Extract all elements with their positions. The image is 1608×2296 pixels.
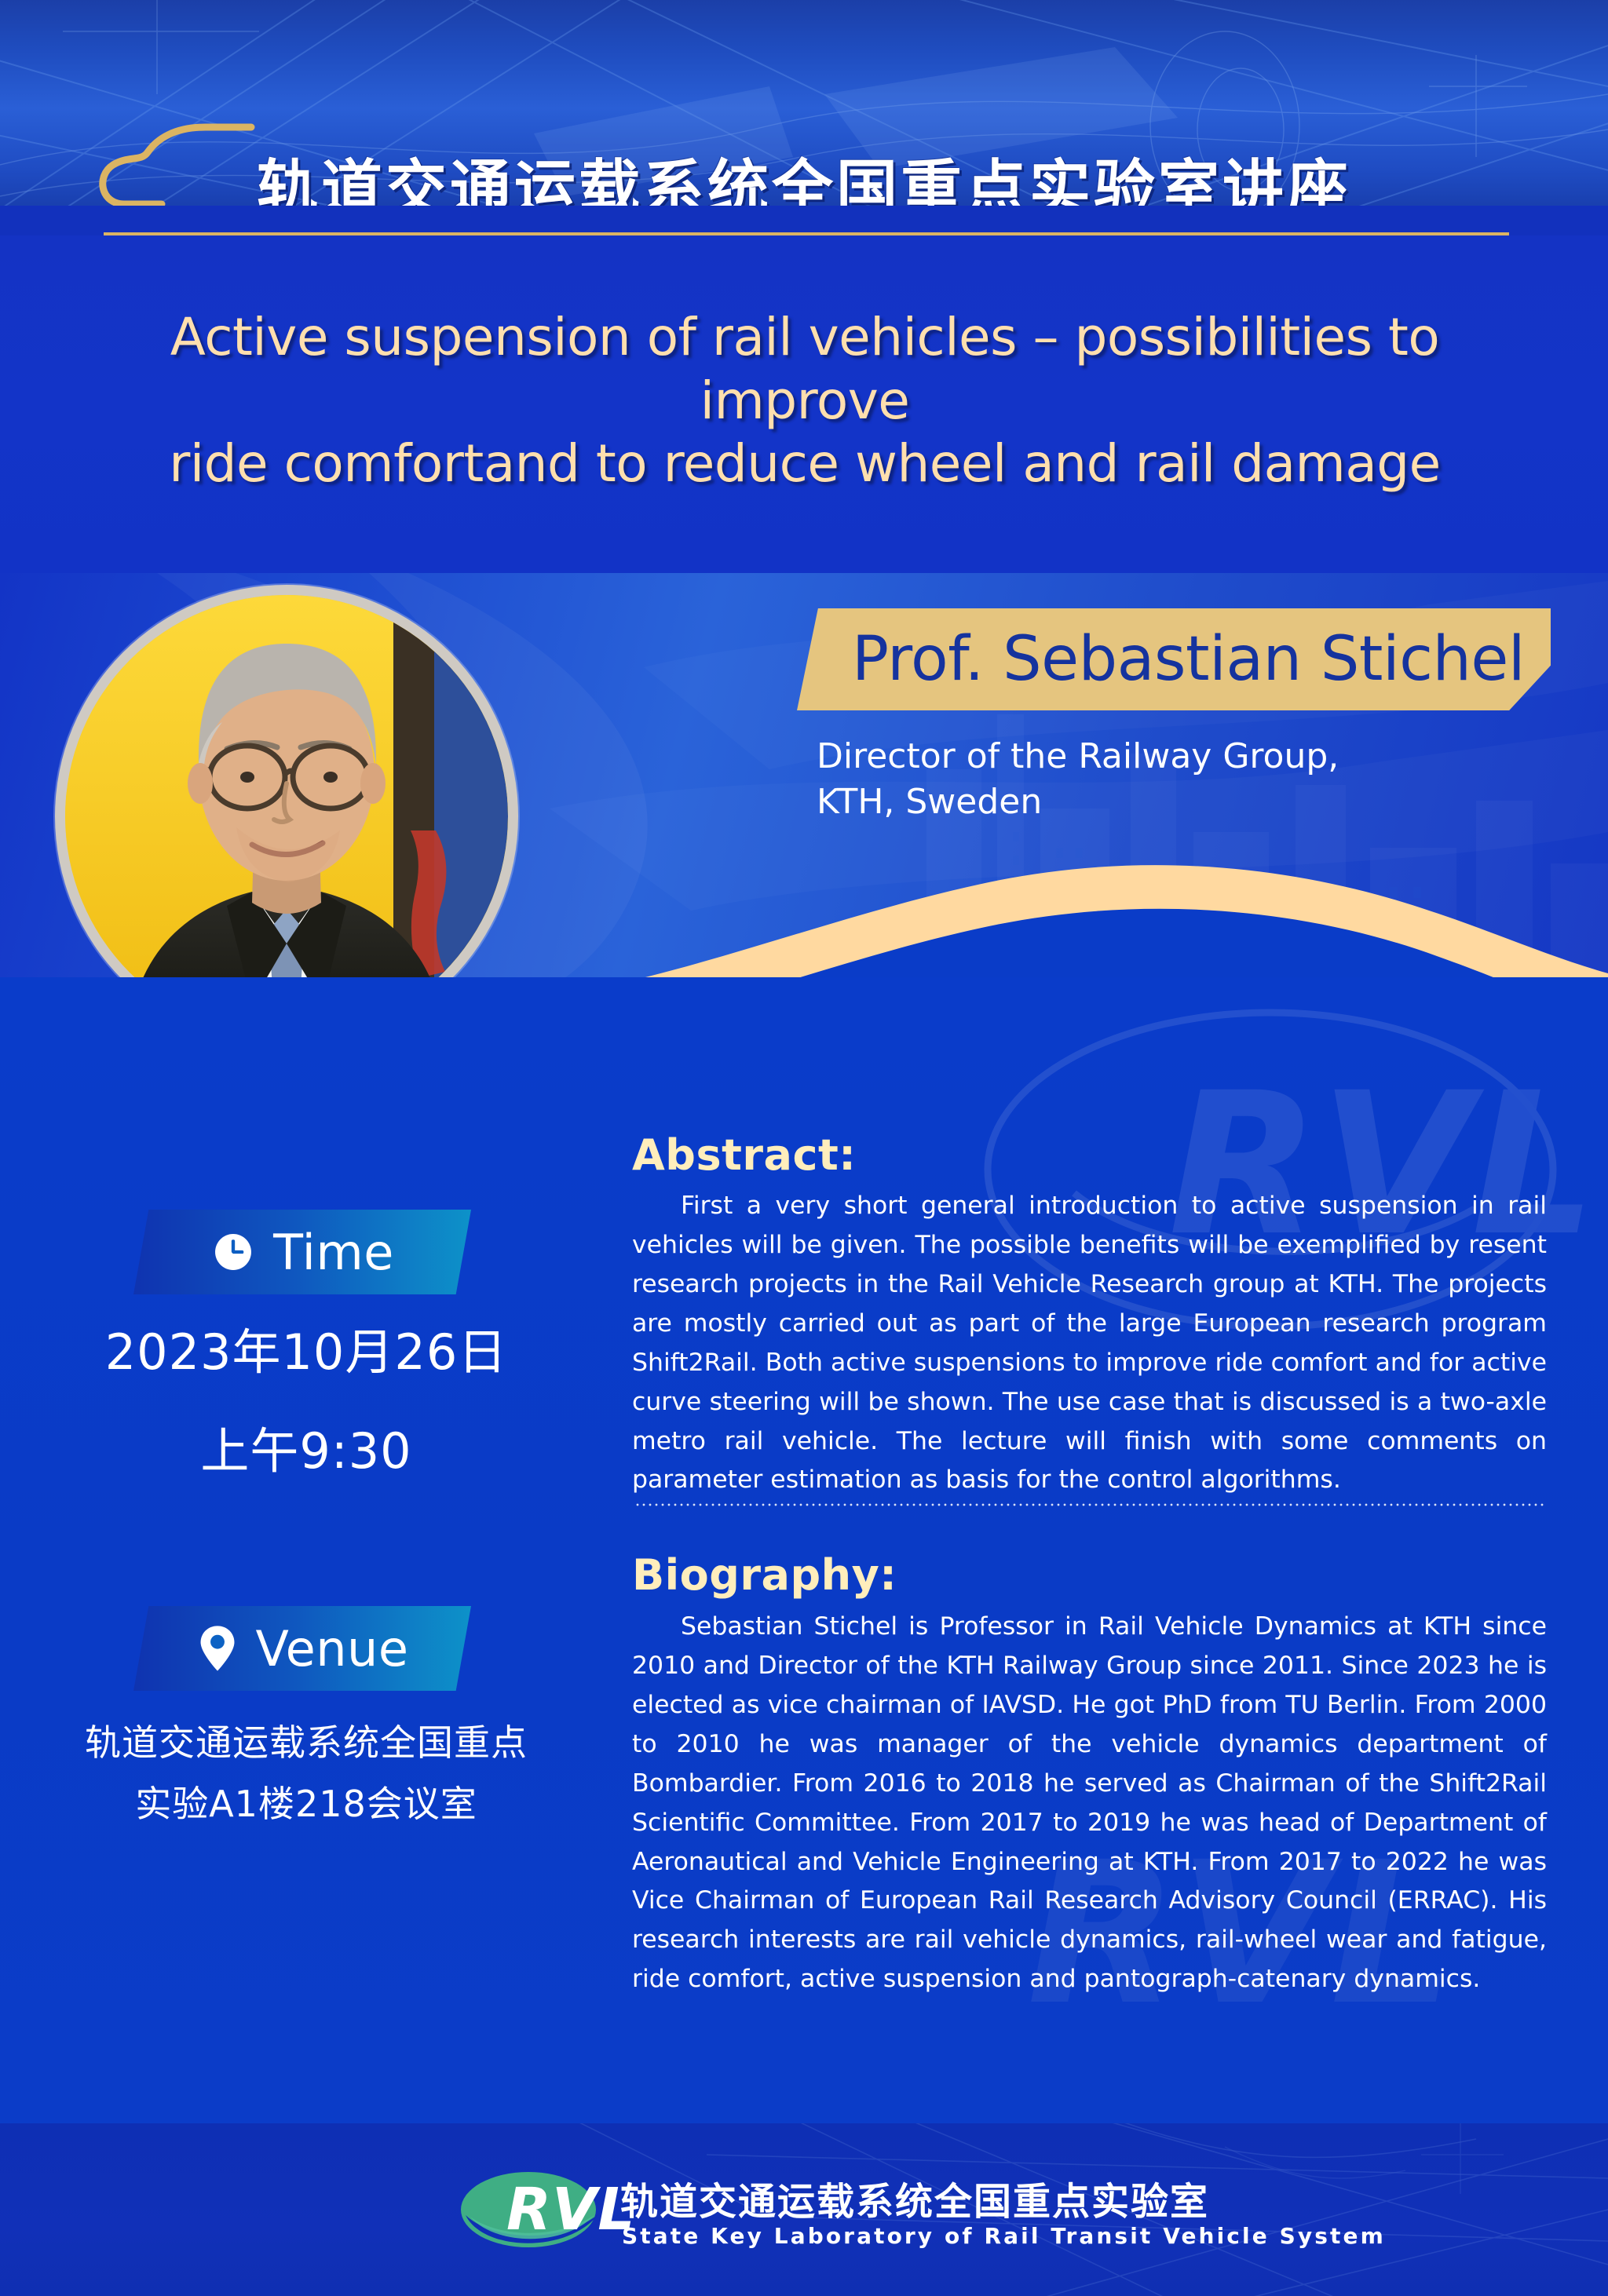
venue-line1: 轨道交通运载系统全国重点 (31, 1714, 581, 1766)
header-bottom-band (0, 206, 1608, 235)
biography-text: Sebastian Stichel is Professor in Rail V… (632, 1608, 1547, 1999)
speaker-affiliation: Director of the Railway Group, KTH, Swed… (817, 734, 1523, 825)
affiliation-line1: Director of the Railway Group, (817, 734, 1523, 779)
affiliation-line2: KTH, Sweden (817, 779, 1523, 825)
biography-heading: Biography: (632, 1550, 897, 1600)
time-date: 2023年10月26日 (31, 1312, 581, 1383)
abstract-heading: Abstract: (632, 1130, 856, 1180)
speaker-name: Prof. Sebastian Stichel (797, 624, 1525, 695)
map-pin-icon (196, 1624, 239, 1673)
clock-icon (210, 1229, 256, 1275)
lecture-title-line2: ride comfortand to reduce wheel and rail… (71, 433, 1539, 496)
abstract-text: First a very short general introduction … (632, 1187, 1547, 1500)
header-banner: 轨道交通运载系统全国重点实验室讲座 (0, 0, 1608, 235)
footer-lab-name-cn: 轨道交通运载系统全国重点实验室 (620, 2170, 1209, 2225)
speaker-name-banner: Prof. Sebastian Stichel (797, 608, 1551, 710)
speaker-photo (65, 595, 508, 1038)
lecture-title-line1: Active suspension of rail vehicles – pos… (71, 306, 1539, 433)
rvl-logo-text: RVL (506, 2176, 635, 2243)
section-divider (634, 1503, 1547, 1506)
time-badge: Time (133, 1210, 471, 1294)
time-badge-label: Time (273, 1224, 394, 1281)
venue-badge-label: Venue (256, 1620, 409, 1677)
poster-root: 轨道交通运载系统全国重点实验室讲座 Active suspension of r… (0, 0, 1608, 2296)
venue-line2: 实验A1楼218会议室 (31, 1776, 581, 1827)
venue-badge: Venue (133, 1606, 471, 1691)
lecture-title: Active suspension of rail vehicles – pos… (71, 306, 1539, 496)
time-clock: 上午9:30 (31, 1411, 581, 1482)
portrait-illustration (65, 595, 508, 1038)
footer-lab-name-en: State Key Laboratory of Rail Transit Veh… (622, 2223, 1386, 2249)
